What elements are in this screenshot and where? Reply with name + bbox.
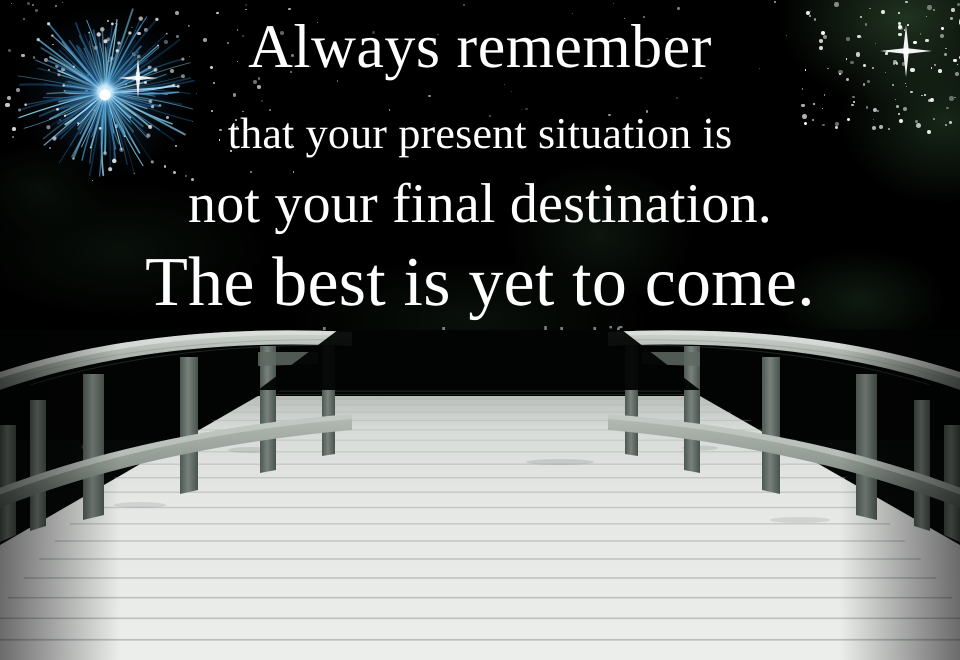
star-icon: [677, 7, 680, 10]
star-icon: [846, 78, 849, 81]
star-icon: [245, 9, 247, 11]
star-icon: [905, 1, 908, 4]
star-icon: [957, 3, 960, 6]
star-icon: [834, 2, 839, 7]
quote-line-3: not your final destination.: [0, 176, 960, 232]
star-icon: [867, 80, 870, 83]
star-icon: [824, 94, 825, 95]
star-icon: [949, 96, 954, 101]
wooden-bridge-icon: [0, 330, 960, 660]
star-icon: [905, 83, 906, 84]
star-icon: [924, 94, 926, 96]
star-icon: [931, 98, 933, 100]
star-icon: [881, 10, 885, 14]
star-icon: [813, 103, 815, 105]
star-icon: [910, 91, 913, 94]
star-icon: [802, 88, 804, 90]
star-icon: [895, 99, 896, 100]
star-icon: [853, 101, 855, 103]
star-icon: [903, 107, 907, 111]
star-icon: [801, 104, 805, 108]
quote-line-1: Always remember: [0, 16, 960, 78]
star-icon: [927, 5, 931, 9]
star-icon: [946, 107, 948, 109]
quote-image: Always remember that your present situat…: [0, 0, 960, 660]
star-icon: [951, 8, 955, 12]
star-icon: [863, 83, 866, 86]
star-icon: [613, 3, 614, 4]
star-icon: [676, 97, 678, 99]
star-icon: [822, 108, 823, 109]
star-icon: [896, 105, 899, 108]
star-icon: [261, 100, 263, 102]
star-icon: [892, 84, 894, 86]
star-icon: [511, 91, 512, 92]
star-icon: [898, 12, 900, 14]
star-icon: [954, 97, 955, 98]
star-icon: [866, 106, 869, 109]
star-icon: [774, 1, 776, 3]
star-icon: [504, 84, 505, 85]
star-icon: [428, 95, 430, 97]
quote-line-4: The best is yet to come.: [0, 248, 960, 318]
star-icon: [906, 86, 907, 87]
star-icon: [257, 85, 261, 89]
star-icon: [869, 8, 871, 10]
quote-line-2: that your present situation is: [0, 112, 960, 156]
star-icon: [463, 4, 465, 6]
star-icon: [245, 4, 248, 7]
star-icon: [233, 93, 236, 96]
star-icon: [933, 9, 935, 11]
star-icon: [921, 95, 923, 97]
star-icon: [851, 104, 853, 106]
star-icon: [810, 11, 811, 12]
star-icon: [852, 96, 854, 98]
star-icon: [288, 8, 291, 11]
